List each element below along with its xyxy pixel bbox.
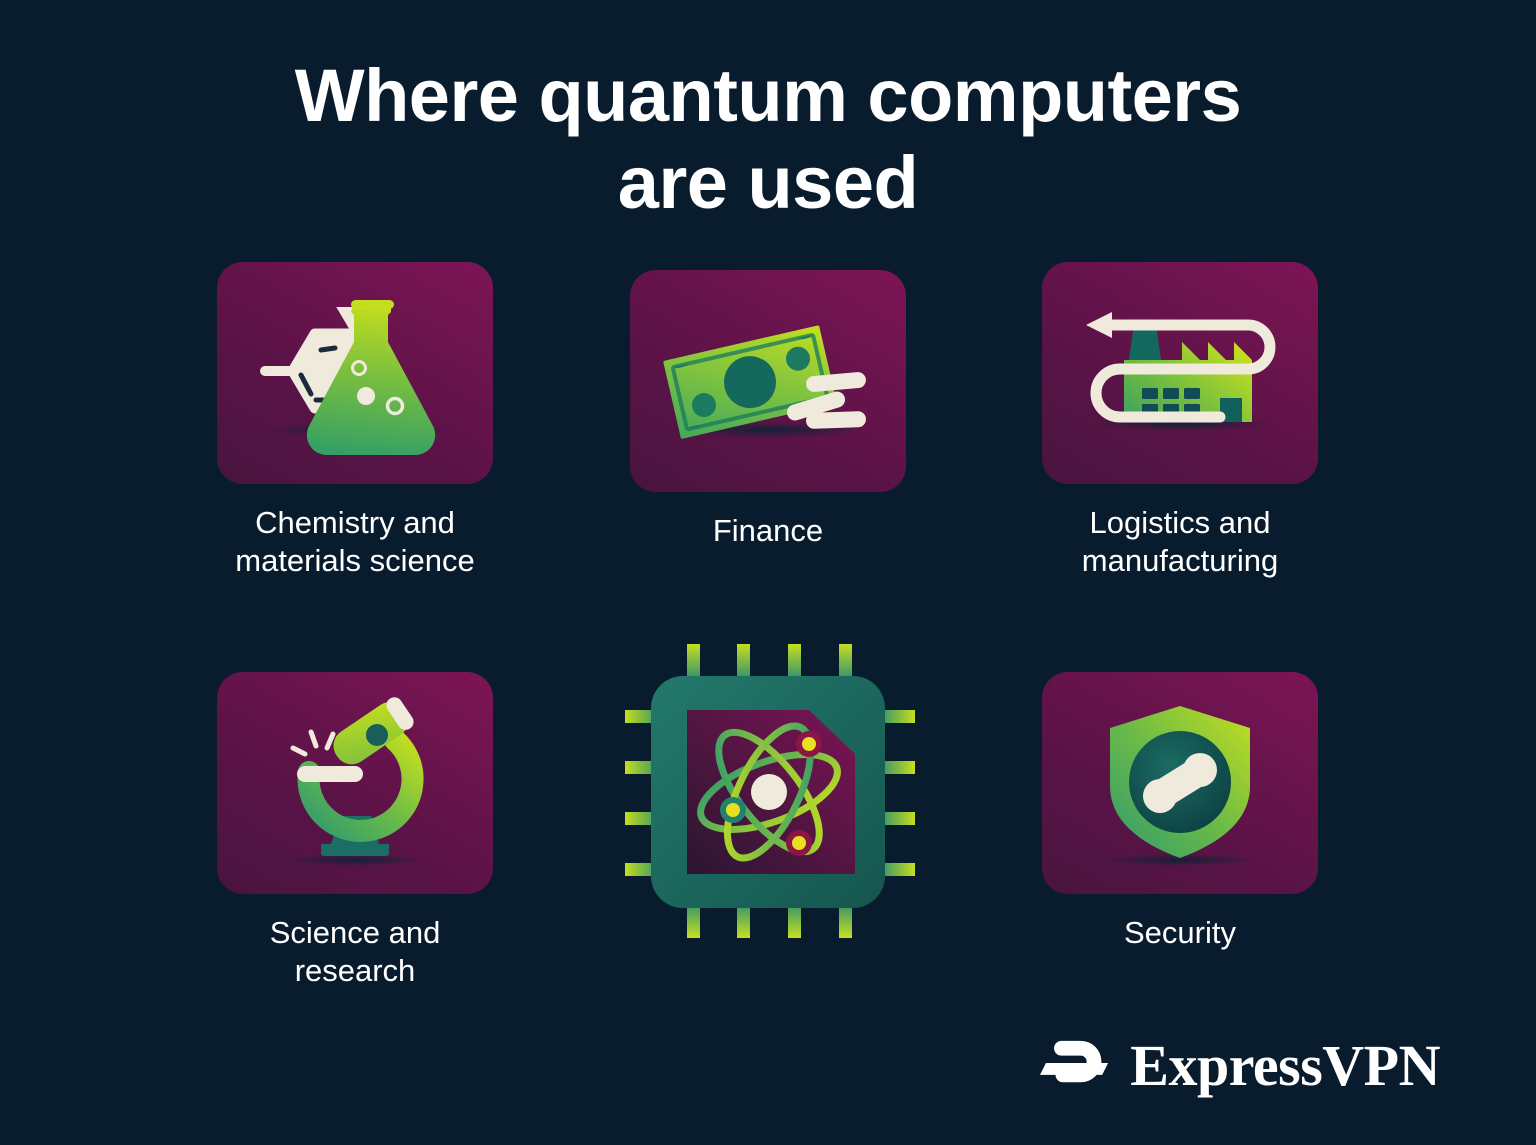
atom-nucleus <box>751 774 787 810</box>
factory-arrow-icon <box>1042 262 1318 484</box>
caption-security-line-1: Security <box>1124 914 1236 952</box>
icon-card-logistics <box>1042 262 1318 484</box>
brand-wordmark: ExpressVPN <box>1130 1037 1440 1095</box>
use-case-logistics: Logistics and manufacturing <box>970 262 1390 580</box>
caption-finance: Finance <box>713 512 823 550</box>
caption-finance-line-1: Finance <box>713 512 823 550</box>
use-case-finance: Finance <box>558 270 978 550</box>
banknote-icon <box>630 270 906 492</box>
caption-logistics: Logistics and manufacturing <box>1082 504 1278 580</box>
use-case-science: Science and research <box>145 672 565 990</box>
expressvpn-logo-icon <box>1040 1029 1114 1103</box>
shield-lock-icon <box>1042 672 1318 894</box>
caption-chemistry-line-2: materials science <box>235 542 474 580</box>
quantum-chip-holder <box>603 630 933 950</box>
chip-pins-top <box>687 644 852 680</box>
caption-science-line-1: Science and <box>270 914 441 952</box>
icon-card-chemistry <box>217 262 493 484</box>
caption-logistics-line-1: Logistics and <box>1082 504 1278 542</box>
icon-card-science <box>217 672 493 894</box>
icon-card-finance <box>630 270 906 492</box>
quantum-chip-atom-icon <box>603 630 933 950</box>
use-case-chemistry: Chemistry and materials science <box>145 262 565 580</box>
caption-logistics-line-2: manufacturing <box>1082 542 1278 580</box>
caption-science: Science and research <box>270 914 441 990</box>
use-case-quantum-chip <box>558 630 978 950</box>
brand-lockup: ExpressVPN <box>1040 1029 1440 1103</box>
icon-card-security <box>1042 672 1318 894</box>
microscope-icon <box>217 672 493 894</box>
use-case-grid: Chemistry and materials science <box>0 0 1536 1145</box>
use-case-security: Security <box>970 672 1390 952</box>
caption-chemistry-line-1: Chemistry and <box>235 504 474 542</box>
caption-security: Security <box>1124 914 1236 952</box>
flask-molecule-icon <box>217 262 493 484</box>
caption-chemistry: Chemistry and materials science <box>235 504 474 580</box>
caption-science-line-2: research <box>270 952 441 990</box>
infographic-canvas: Where quantum computers are used <box>0 0 1536 1145</box>
